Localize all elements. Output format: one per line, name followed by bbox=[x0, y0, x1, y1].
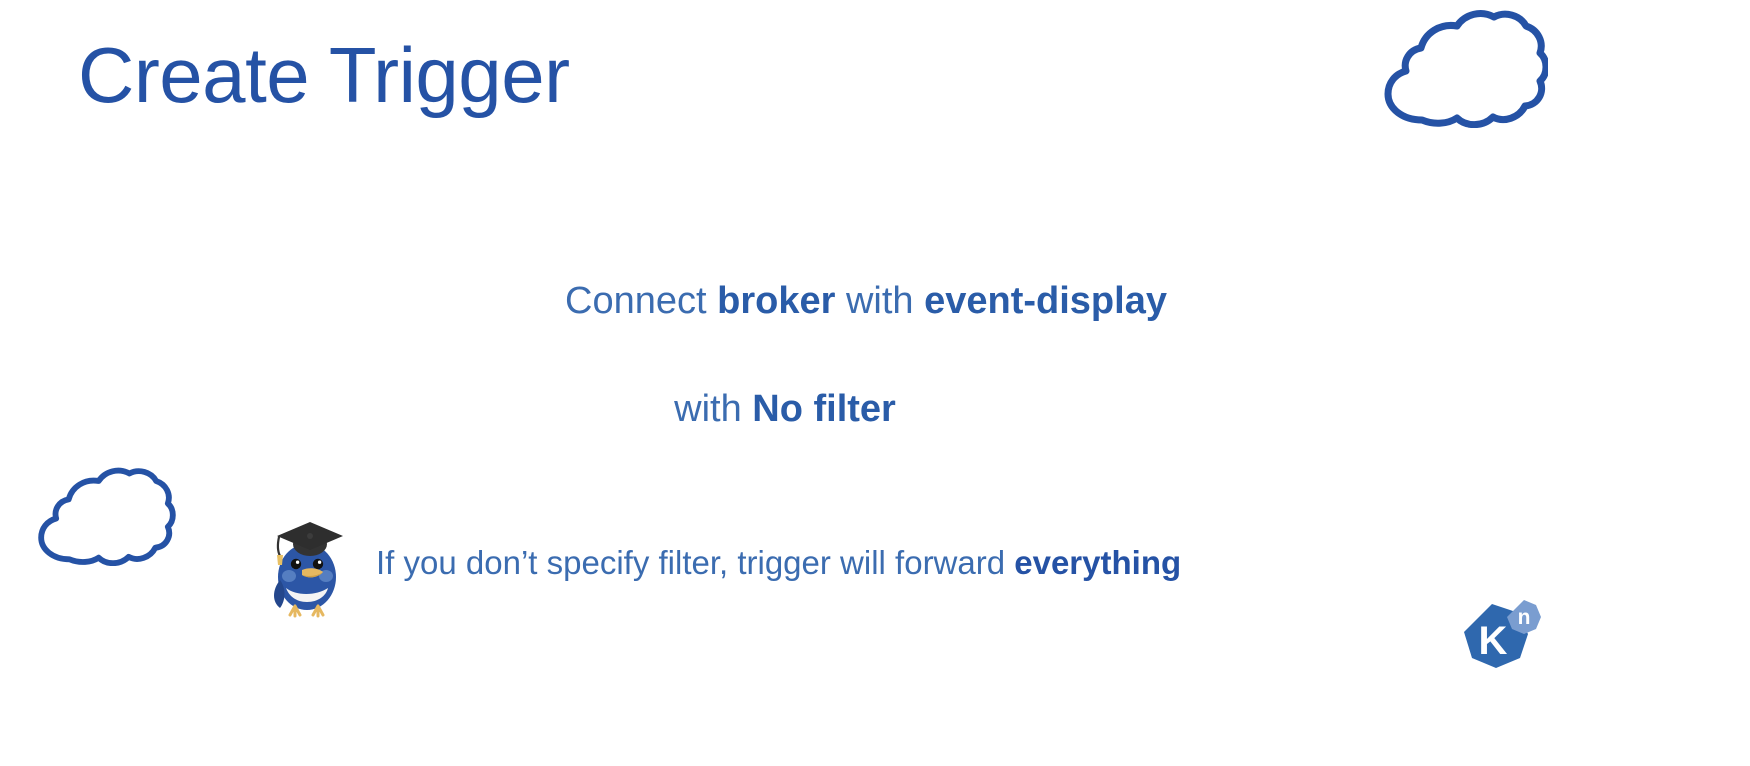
text-connect-pre: Connect bbox=[565, 280, 717, 322]
text-broker: broker bbox=[717, 280, 835, 322]
text-note-pre: If you don’t specify filter, trigger wil… bbox=[376, 544, 1014, 581]
text-no-filter: No filter bbox=[752, 388, 896, 430]
body-line-note: If you don’t specify filter, trigger wil… bbox=[376, 543, 1181, 583]
page-title: Create Trigger bbox=[78, 36, 570, 114]
slide-canvas: Create Trigger Connect broker with event… bbox=[0, 0, 1750, 766]
knative-k-letter: K bbox=[1479, 619, 1508, 663]
text-connect-mid: with bbox=[835, 280, 924, 322]
cloud-outline-icon bbox=[22, 466, 177, 566]
graduate-bird-icon bbox=[268, 502, 346, 630]
body-line-connect: Connect broker with event-display bbox=[565, 279, 1167, 325]
text-event-display: event-display bbox=[924, 280, 1167, 322]
cloud-outline-icon bbox=[1368, 8, 1548, 128]
body-line-filter: with No filter bbox=[674, 387, 896, 433]
text-everything: everything bbox=[1014, 544, 1181, 581]
text-filter-pre: with bbox=[674, 388, 752, 430]
knative-logo: K n bbox=[1448, 586, 1544, 682]
knative-n-letter: n bbox=[1518, 606, 1531, 629]
